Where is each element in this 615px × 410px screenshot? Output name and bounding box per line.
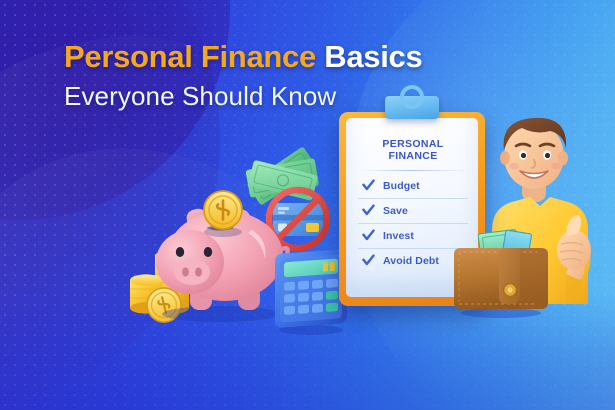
headline-block: Personal Finance Basics Everyone Should … — [64, 40, 422, 111]
checklist-divider — [360, 170, 466, 171]
check-icon — [362, 254, 375, 267]
checklist-item-label: Invest — [383, 230, 414, 242]
headline-line-1: Personal Finance Basics — [64, 40, 422, 74]
checklist-item-label: Save — [383, 205, 408, 217]
checklist-item-label: Budget — [383, 180, 420, 192]
finance-banner: Personal Finance Basics Everyone Should … — [0, 0, 615, 410]
check-icon — [362, 179, 375, 192]
checklist-item[interactable]: Budget — [358, 179, 468, 199]
headline-highlight: Personal Finance — [64, 39, 316, 74]
checklist-title: PERSONAL FINANCE — [358, 138, 468, 162]
check-icon — [362, 229, 375, 242]
checklist-item[interactable]: Save — [358, 204, 468, 224]
dollar-coin-icon — [204, 191, 242, 237]
check-icon — [362, 204, 375, 217]
checklist-item-label: Avoid Debt — [383, 255, 439, 267]
wallet-icon — [448, 228, 554, 318]
headline-line-2: Everyone Should Know — [64, 82, 422, 111]
headline-rest: Basics — [324, 39, 422, 74]
